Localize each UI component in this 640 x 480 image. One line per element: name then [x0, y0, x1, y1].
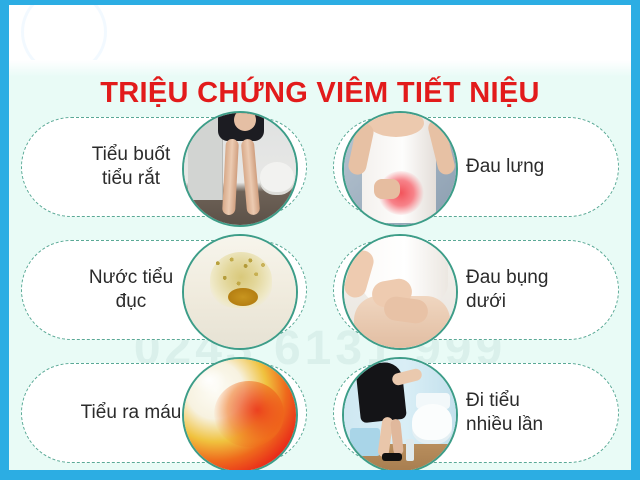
- symptom-label: Nước tiểu đục: [56, 266, 206, 315]
- symptom-label: Đi tiểu nhiều lần: [466, 389, 606, 438]
- infographic-poster: TRIỆU CHỨNG VIÊM TIẾT NIỆU 0243 6131 999…: [0, 0, 640, 480]
- header-fade: [9, 60, 631, 76]
- page-title: TRIỆU CHỨNG VIÊM TIẾT NIỆU: [9, 77, 631, 110]
- symptom-card-back-pain[interactable]: Đau lưng: [333, 117, 619, 217]
- symptom-card-lower-abdominal-pain[interactable]: Đau bụng dưới: [333, 240, 619, 340]
- photo-back-pain: [342, 111, 458, 227]
- photo-lower-abdominal-pain: [342, 234, 458, 350]
- symptom-card-painful-urination[interactable]: Tiểu buốt tiểu rắt: [21, 117, 307, 217]
- poster-inner-frame: TRIỆU CHỨNG VIÊM TIẾT NIỆU 0243 6131 999…: [9, 5, 631, 470]
- symptom-label: Tiểu ra máu: [56, 401, 206, 425]
- symptom-row: Tiểu buốt tiểu rắt: [9, 117, 631, 227]
- photo-frequent-urination: [342, 357, 458, 470]
- symptom-row: Tiểu ra máu Đi tiểu nhiều lần: [9, 363, 631, 470]
- symptom-rows: Tiểu buốt tiểu rắt: [9, 117, 631, 470]
- symptom-card-cloudy-urine[interactable]: Nước tiểu đục: [21, 240, 307, 340]
- symptom-card-frequent-urination[interactable]: Đi tiểu nhiều lần: [333, 363, 619, 463]
- symptom-card-blood-in-urine[interactable]: Tiểu ra máu: [21, 363, 307, 463]
- symptom-label: Đau lưng: [466, 155, 606, 179]
- header-band: [9, 5, 631, 68]
- symptom-label: Tiểu buốt tiểu rắt: [56, 143, 206, 192]
- symptom-row: Nước tiểu đục Đau bụng dưới: [9, 240, 631, 350]
- symptom-label: Đau bụng dưới: [466, 266, 606, 315]
